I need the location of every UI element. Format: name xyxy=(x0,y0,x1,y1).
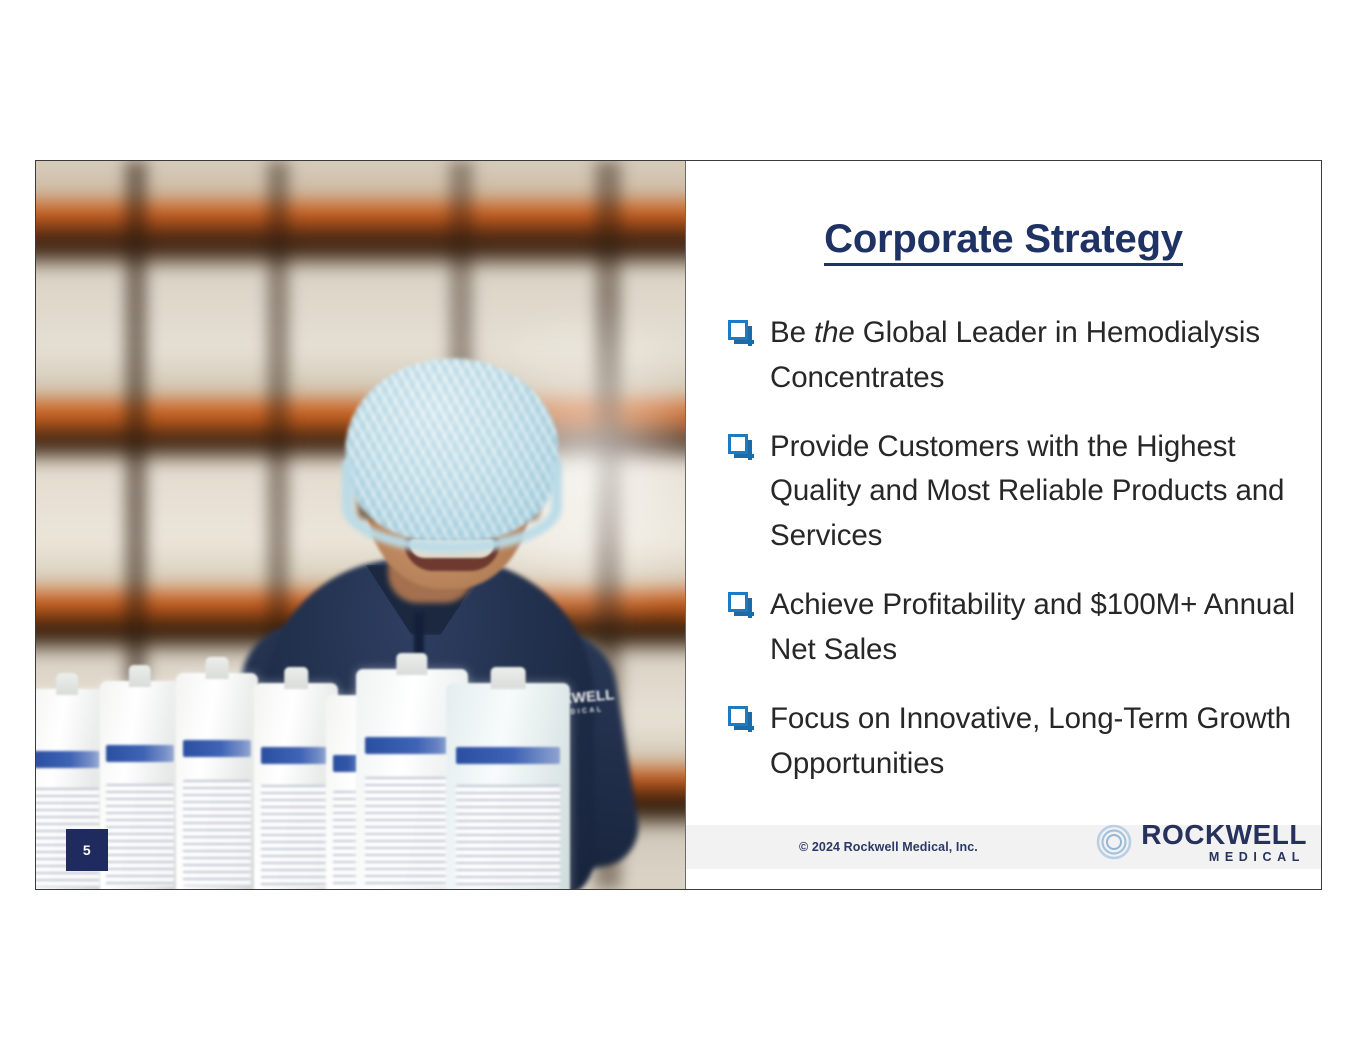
warehouse-photo: ROCKWELL MEDICAL xyxy=(36,161,685,889)
list-item: Be the Global Leader in Hemodialysis Con… xyxy=(728,311,1297,401)
brand-subtitle: MEDICAL xyxy=(1141,851,1307,864)
bottle-label-text xyxy=(261,785,332,887)
slide-footer: © 2024 Rockwell Medical, Inc. ROCKWELL M… xyxy=(686,825,1321,869)
bottle-label-band xyxy=(183,740,252,757)
bullet-text: Focus on Innovative, Long-Term Growth Op… xyxy=(770,697,1297,787)
bullet-marker xyxy=(728,697,770,726)
concentrate-bottles xyxy=(36,589,685,889)
brand-wordmark: ROCKWELL MEDICAL xyxy=(1141,821,1307,864)
bullet-marker xyxy=(728,425,770,454)
bullet-marker xyxy=(728,583,770,612)
rockwell-medical-logo: ROCKWELL MEDICAL xyxy=(1093,821,1307,864)
concentric-ring-icon xyxy=(1093,821,1135,863)
bottle-label-text xyxy=(106,784,173,887)
list-item: Focus on Innovative, Long-Term Growth Op… xyxy=(728,697,1297,787)
bullet-marker xyxy=(728,311,770,340)
list-item: Provide Customers with the Highest Quali… xyxy=(728,425,1297,559)
copyright-notice: © 2024 Rockwell Medical, Inc. xyxy=(799,840,978,854)
hairnet-band xyxy=(342,461,562,553)
page-title: Corporate Strategy xyxy=(686,217,1321,262)
bullet-text: Achieve Profitability and $100M+ Annual … xyxy=(770,583,1297,673)
checkbox-square-icon xyxy=(728,434,748,454)
bottle-label-band xyxy=(365,737,459,754)
bottle-label-band xyxy=(36,751,100,768)
bottle xyxy=(100,681,180,889)
bullet-text-emphasis: the xyxy=(814,316,855,349)
bottle-label-text xyxy=(365,777,459,886)
bottle-label-band xyxy=(106,745,173,762)
bottle xyxy=(176,673,258,889)
bottle xyxy=(446,683,570,889)
bottle-label-text xyxy=(183,780,252,887)
content-panel: Corporate Strategy Be the Global Leader … xyxy=(685,161,1321,889)
page-number-badge: 5 xyxy=(66,829,108,871)
page-title-text: Corporate Strategy xyxy=(824,217,1183,266)
bullet-list: Be the Global Leader in Hemodialysis Con… xyxy=(728,311,1297,810)
slide-page: ROCKWELL MEDICAL xyxy=(0,0,1365,1055)
checkbox-square-icon xyxy=(728,706,748,726)
bullet-text: Be the Global Leader in Hemodialysis Con… xyxy=(770,311,1297,401)
bottle-label-text xyxy=(456,785,560,887)
bottle-label-band xyxy=(456,747,560,764)
bullet-text: Provide Customers with the Highest Quali… xyxy=(770,425,1297,559)
bullet-text-pre: Be xyxy=(770,316,814,349)
checkbox-square-icon xyxy=(728,320,748,340)
checkbox-square-icon xyxy=(728,592,748,612)
slide-frame: ROCKWELL MEDICAL xyxy=(35,160,1322,890)
bottle-label-band xyxy=(261,747,332,764)
brand-name: ROCKWELL xyxy=(1141,821,1307,849)
list-item: Achieve Profitability and $100M+ Annual … xyxy=(728,583,1297,673)
